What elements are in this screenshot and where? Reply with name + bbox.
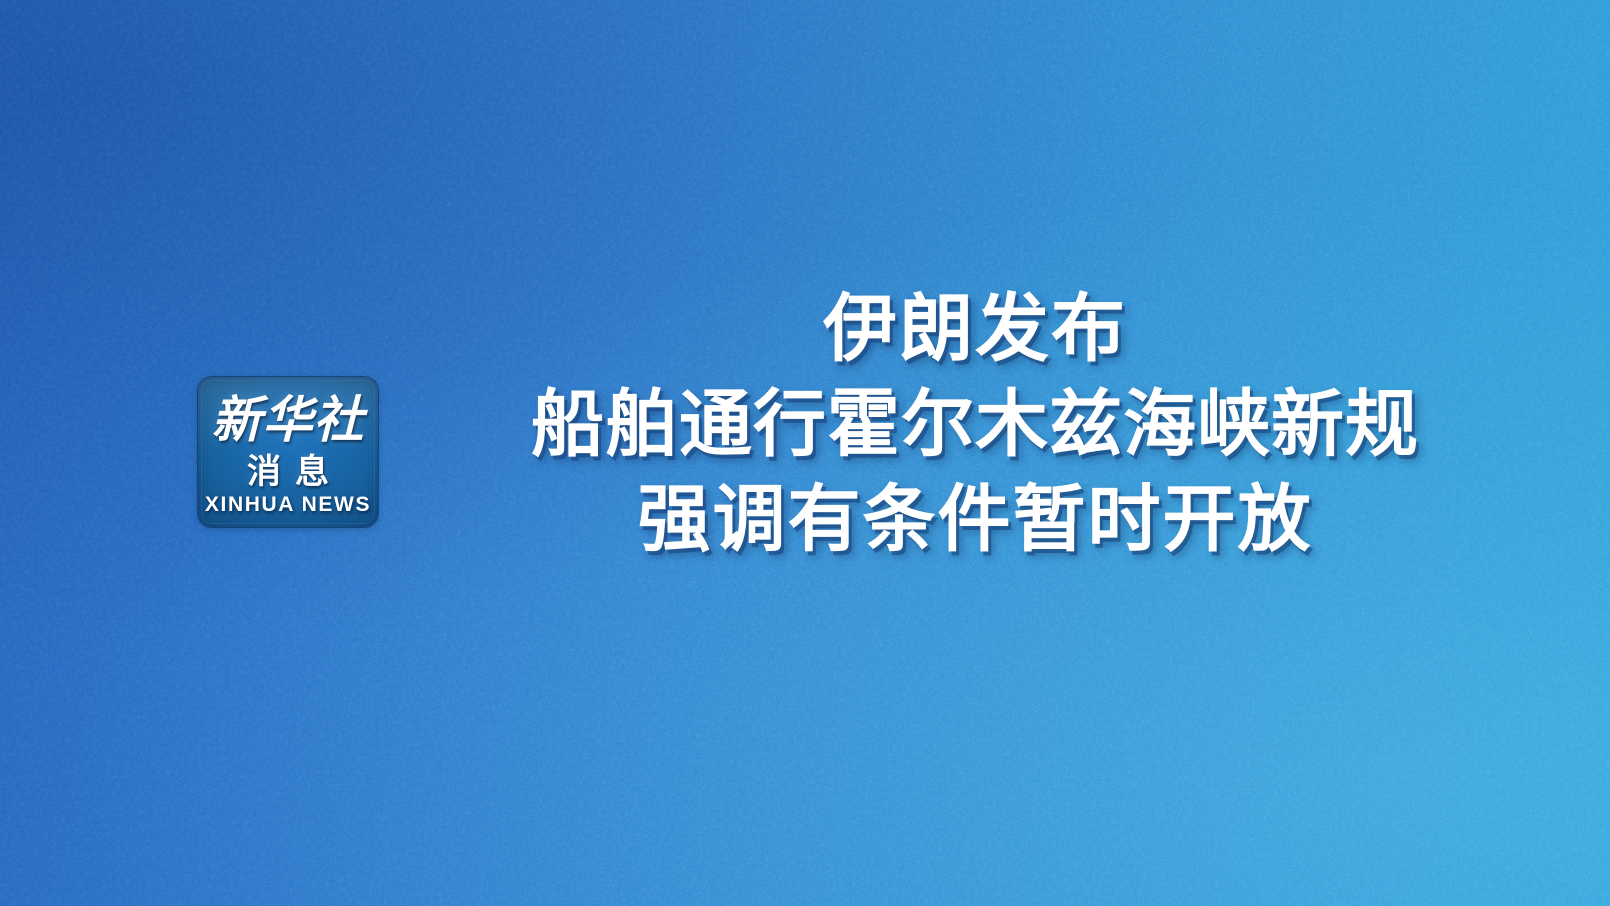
xinhua-news-logo[interactable]: 新华社 消息 XINHUA NEWS bbox=[198, 377, 378, 527]
logo-chinese-subtitle: 消息 bbox=[198, 451, 378, 493]
headline: 伊朗发布 船舶通行霍尔木兹海峡新规 强调有条件暂时开放 bbox=[470, 292, 1480, 556]
logo-chinese-title: 新华社 bbox=[198, 389, 378, 451]
headline-line-2: 船舶通行霍尔木兹海峡新规 bbox=[470, 388, 1480, 461]
headline-line-1: 伊朗发布 bbox=[470, 292, 1480, 366]
news-card: 新华社 消息 XINHUA NEWS 伊朗发布 船舶通行霍尔木兹海峡新规 强调有… bbox=[0, 0, 1610, 906]
logo-english-title: XINHUA NEWS bbox=[198, 494, 378, 515]
headline-line-3: 强调有条件暂时开放 bbox=[470, 483, 1480, 556]
